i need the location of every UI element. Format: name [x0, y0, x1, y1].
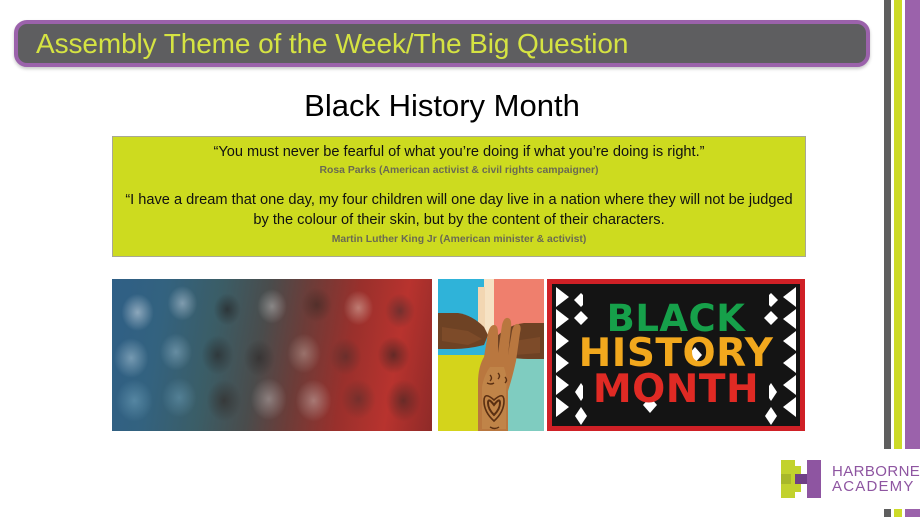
presentation-slide: Assembly Theme of the Week/The Big Quest… [0, 0, 920, 517]
black-icons-collage-image [112, 279, 432, 431]
quote-attribution: Martin Luther King Jr (American minister… [123, 233, 795, 246]
quote-block-mlk: “I have a dream that one day, my four ch… [123, 190, 795, 246]
school-logo: HARBORNE ACADEMY [771, 449, 920, 509]
decorative-stripe-purple [905, 0, 920, 517]
h-monogram-icon [777, 456, 825, 502]
slide-title-text: Assembly Theme of the Week/The Big Quest… [36, 28, 628, 60]
decorative-stripe-lime [894, 0, 902, 517]
hands-artwork [438, 279, 544, 431]
collage-artwork [112, 279, 432, 431]
poster-wordmark: BLACK HISTORY MONTH [573, 283, 779, 427]
diverse-hands-illustration-image [438, 279, 544, 431]
black-history-month-poster-image: BLACK HISTORY MONTH [547, 279, 805, 431]
logo-wordmark: HARBORNE ACADEMY [832, 464, 920, 495]
quotes-panel: “You must never be fearful of what you’r… [112, 136, 806, 257]
quote-text: “You must never be fearful of what you’r… [123, 143, 795, 162]
page-title: Black History Month [0, 88, 884, 124]
quote-attribution: Rosa Parks (American activist & civil ri… [123, 164, 795, 177]
poster-line-3: MONTH [593, 372, 759, 408]
quote-block-rosa-parks: “You must never be fearful of what you’r… [123, 143, 795, 177]
logo-line-2: ACADEMY [832, 479, 920, 494]
decorative-stripe-gray [884, 0, 891, 517]
slide-title-banner: Assembly Theme of the Week/The Big Quest… [14, 20, 870, 67]
quote-text: “I have a dream that one day, my four ch… [123, 190, 795, 231]
logo-line-1: HARBORNE [832, 464, 920, 479]
